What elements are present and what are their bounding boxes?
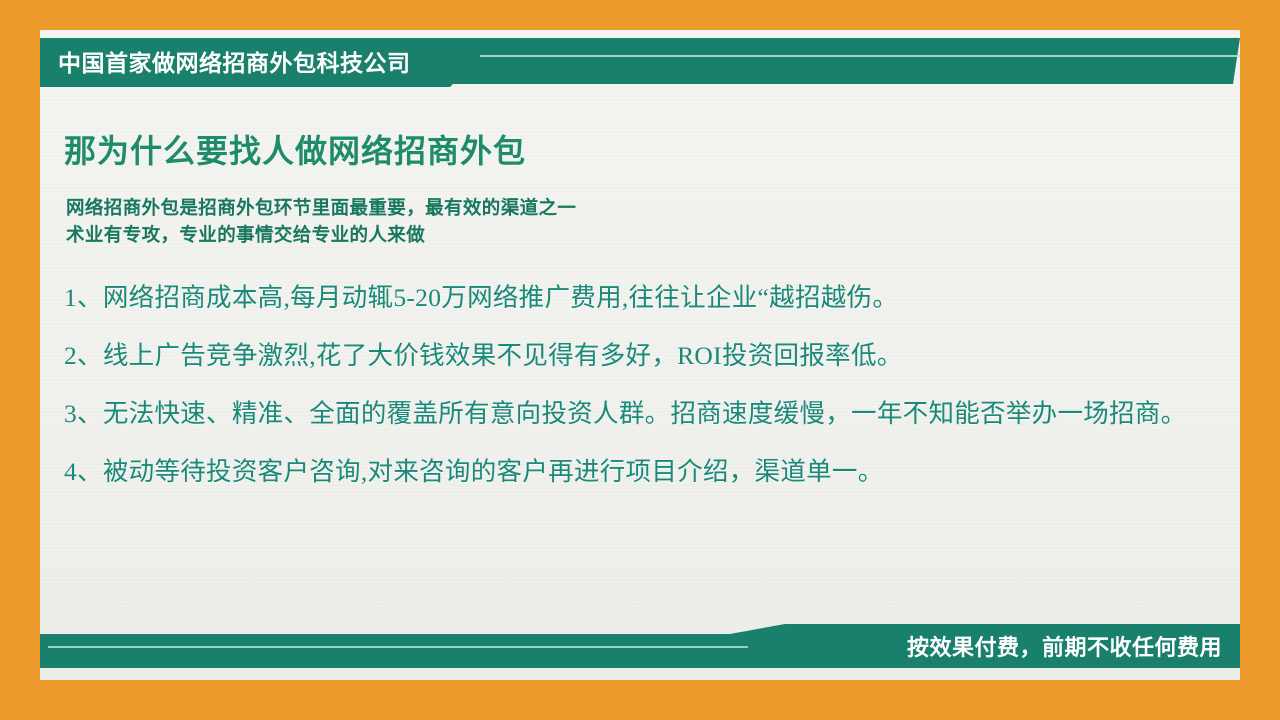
slide-content: 那为什么要找人做网络招商外包 网络招商外包是招商外包环节里面最重要，最有效的渠道… — [64, 126, 1216, 490]
subheading-line-2: 术业有专攻，专业的事情交给专业的人来做 — [66, 223, 1216, 250]
pain-point-list: 1、网络招商成本高,每月动辄5-20万网络推广费用,往往让企业“越招越伤。 2、… — [64, 280, 1216, 491]
subheading-block: 网络招商外包是招商外包环节里面最重要，最有效的渠道之一 术业有专攻，专业的事情交… — [66, 196, 1216, 250]
footer-tagline: 按效果付费，前期不收任何费用 — [907, 624, 1222, 668]
page-title: 那为什么要找人做网络招商外包 — [64, 126, 1216, 172]
paper-panel: 中国首家做网络招商外包科技公司 那为什么要找人做网络招商外包 网络招商外包是招商… — [40, 30, 1240, 680]
list-item: 4、被动等待投资客户咨询,对来咨询的客户再进行项目介绍，渠道单一。 — [64, 454, 1216, 490]
subheading-line-1: 网络招商外包是招商外包环节里面最重要，最有效的渠道之一 — [66, 196, 1216, 223]
header-hairline — [480, 55, 1240, 57]
list-item: 3、无法快速、精准、全面的覆盖所有意向投资人群。招商速度缓慢，一年不知能否举办一… — [64, 396, 1216, 432]
footer-hairline — [48, 646, 748, 648]
slide-root: 中国首家做网络招商外包科技公司 那为什么要找人做网络招商外包 网络招商外包是招商… — [0, 0, 1280, 720]
list-item: 2、线上广告竞争激烈,花了大价钱效果不见得有多好，ROI投资回报率低。 — [64, 338, 1216, 374]
header-title: 中国首家做网络招商外包科技公司 — [40, 38, 510, 84]
footer-band: 按效果付费，前期不收任何费用 — [40, 614, 1240, 668]
list-item: 1、网络招商成本高,每月动辄5-20万网络推广费用,往往让企业“越招越伤。 — [64, 280, 1216, 316]
